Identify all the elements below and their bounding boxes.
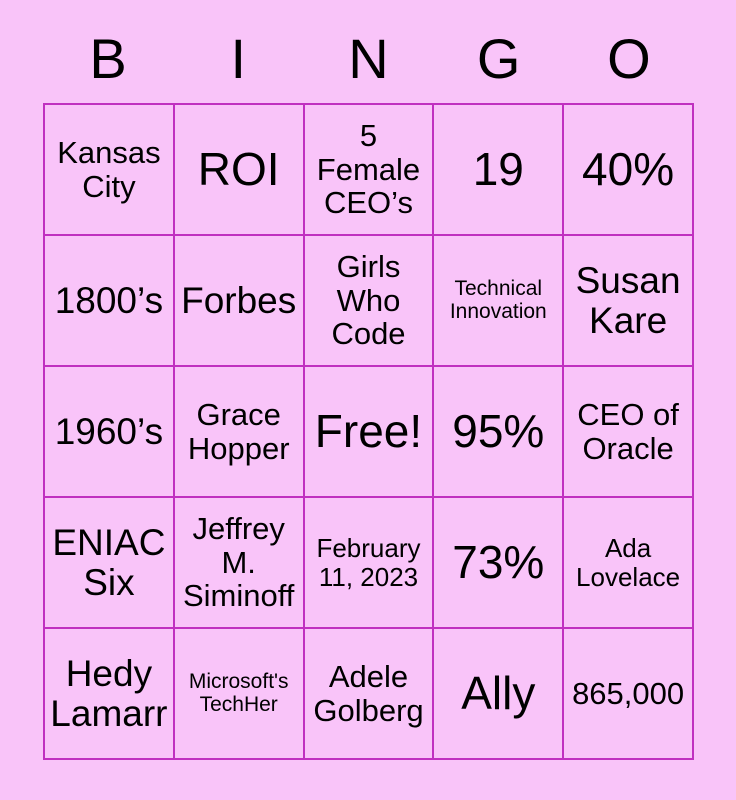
bingo-cell-label: Ally: [438, 669, 558, 719]
bingo-cell-label: 865,000: [568, 677, 688, 710]
header-letter-i: I: [173, 24, 303, 94]
bingo-cell[interactable]: 5 Female CEO’s: [305, 105, 435, 236]
bingo-grid: Kansas CityROI5 Female CEO’s1940%1800’sF…: [43, 103, 694, 760]
bingo-cell-label: 95%: [438, 407, 558, 457]
bingo-cell[interactable]: 95%: [434, 367, 564, 498]
bingo-cell[interactable]: Forbes: [175, 236, 305, 367]
bingo-cell-label: Hedy Lamarr: [49, 654, 169, 734]
bingo-cell-label: ROI: [179, 145, 299, 195]
bingo-card: B I N G O Kansas CityROI5 Female CEO’s19…: [0, 0, 736, 800]
bingo-cell[interactable]: ENIAC Six: [45, 498, 175, 629]
bingo-cell-label: Jeffrey M. Siminoff: [179, 512, 299, 612]
bingo-cell[interactable]: Girls Who Code: [305, 236, 435, 367]
bingo-cell[interactable]: Hedy Lamarr: [45, 629, 175, 760]
bingo-cell[interactable]: 40%: [564, 105, 694, 236]
bingo-cell[interactable]: Susan Kare: [564, 236, 694, 367]
bingo-cell[interactable]: ROI: [175, 105, 305, 236]
bingo-cell[interactable]: February 11, 2023: [305, 498, 435, 629]
bingo-cell-label: Ada Lovelace: [568, 534, 688, 590]
bingo-header: B I N G O: [43, 24, 694, 94]
bingo-cell-label: ENIAC Six: [49, 523, 169, 603]
bingo-cell-label: CEO of Oracle: [568, 398, 688, 465]
header-letter-g: G: [434, 24, 564, 94]
bingo-cell-label: 1960’s: [49, 412, 169, 452]
bingo-cell[interactable]: 1800’s: [45, 236, 175, 367]
bingo-cell-label: Adele Golberg: [309, 660, 429, 727]
bingo-cell[interactable]: 865,000: [564, 629, 694, 760]
bingo-cell[interactable]: Free!: [305, 367, 435, 498]
bingo-cell[interactable]: 73%: [434, 498, 564, 629]
bingo-cell[interactable]: Adele Golberg: [305, 629, 435, 760]
bingo-cell-label: Grace Hopper: [179, 398, 299, 465]
header-letter-n: N: [303, 24, 433, 94]
bingo-cell[interactable]: Kansas City: [45, 105, 175, 236]
bingo-cell[interactable]: Ada Lovelace: [564, 498, 694, 629]
header-letter-b: B: [43, 24, 173, 94]
bingo-cell[interactable]: Microsoft's TechHer: [175, 629, 305, 760]
header-letter-o: O: [564, 24, 694, 94]
bingo-cell-label: 1800’s: [49, 281, 169, 321]
bingo-cell[interactable]: Technical Innovation: [434, 236, 564, 367]
bingo-cell-label: Technical Innovation: [438, 278, 558, 323]
bingo-cell[interactable]: 1960’s: [45, 367, 175, 498]
bingo-cell[interactable]: Ally: [434, 629, 564, 760]
bingo-cell[interactable]: CEO of Oracle: [564, 367, 694, 498]
bingo-cell-label: 40%: [568, 145, 688, 195]
bingo-cell-label: Susan Kare: [568, 261, 688, 341]
bingo-cell-label: 5 Female CEO’s: [309, 119, 429, 219]
bingo-cell-label: Kansas City: [49, 136, 169, 203]
bingo-cell[interactable]: Jeffrey M. Siminoff: [175, 498, 305, 629]
bingo-cell-label: Girls Who Code: [309, 250, 429, 350]
bingo-cell-label: 19: [438, 145, 558, 195]
bingo-cell-label: 73%: [438, 538, 558, 588]
bingo-cell[interactable]: 19: [434, 105, 564, 236]
bingo-cell-label: Forbes: [179, 281, 299, 321]
bingo-cell-label: February 11, 2023: [309, 534, 429, 590]
bingo-cell[interactable]: Grace Hopper: [175, 367, 305, 498]
bingo-cell-label: Microsoft's TechHer: [179, 671, 299, 716]
bingo-cell-label: Free!: [309, 407, 429, 457]
